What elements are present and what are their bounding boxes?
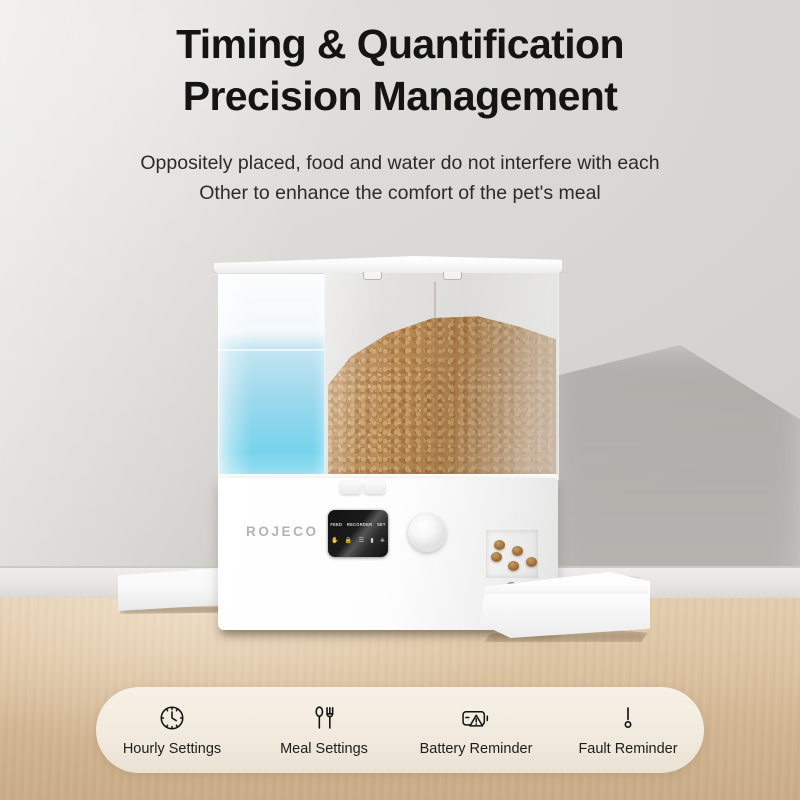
- kibble-piece: [512, 546, 523, 556]
- display-label-recorder: RECORDER: [347, 522, 372, 527]
- product-marketing-image: Timing & Quantification Precision Manage…: [0, 0, 800, 800]
- lock-icon: 🔒: [345, 538, 352, 544]
- exclamation-icon: [614, 704, 642, 732]
- feature-label: Fault Reminder: [578, 741, 677, 757]
- feature-label: Battery Reminder: [420, 741, 533, 757]
- feature-label: Hourly Settings: [123, 741, 221, 757]
- subtitle-line-2: Other to enhance the comfort of the pet'…: [199, 182, 601, 204]
- feature-label: Meal Settings: [280, 741, 368, 757]
- feature-highlight-bar: Hourly Settings Meal Settings: [96, 687, 704, 773]
- latch-tab-right: [364, 481, 385, 494]
- brand-logo: ROJECO: [246, 524, 319, 539]
- feature-item-battery-reminder[interactable]: Battery Reminder: [400, 704, 552, 757]
- kibble-piece: [491, 552, 502, 562]
- page-subtitle: Oppositely placed, food and water do not…: [50, 148, 750, 208]
- lid-clip-left: [363, 272, 382, 280]
- display-mode-labels: FEED RECORDER SET: [328, 522, 388, 527]
- display-label-feed: FEED: [330, 522, 342, 527]
- kibble-piece: [494, 540, 505, 550]
- feature-item-meal-settings[interactable]: Meal Settings: [248, 704, 400, 757]
- display-status-icons: ✋ 🔒 ☰ ▮ ⎈: [328, 538, 388, 544]
- wifi-icon: ☰: [359, 538, 364, 544]
- page-title: Timing & Quantification Precision Manage…: [0, 18, 800, 122]
- pet-feeder-product: ROJECO FEED RECORDER SET ✋ 🔒 ☰ ▮ ⎈: [118, 252, 648, 644]
- hopper-inner-edge: [434, 282, 436, 478]
- subtitle-line-1: Oppositely placed, food and water do not…: [140, 152, 659, 174]
- battery-icon: ▮: [370, 538, 373, 544]
- feature-item-fault-reminder[interactable]: Fault Reminder: [552, 704, 704, 757]
- latch-tab-left: [340, 481, 361, 494]
- clock-icon: [158, 704, 186, 732]
- feature-item-hourly-settings[interactable]: Hourly Settings: [96, 704, 248, 757]
- food-dispensing-chute: [486, 530, 538, 578]
- water-tank-gloss: [218, 274, 252, 480]
- control-knob[interactable]: [408, 514, 446, 552]
- hand-icon: ✋: [331, 538, 338, 544]
- hopper-latch[interactable]: [340, 481, 386, 495]
- heading-block: Timing & Quantification Precision Manage…: [0, 18, 800, 208]
- power-icon: ⎈: [380, 538, 385, 544]
- battery-warning-icon: [461, 704, 491, 732]
- cutlery-icon: [310, 704, 338, 732]
- hopper-lid[interactable]: [214, 256, 562, 273]
- kibble-piece: [508, 561, 519, 571]
- title-line-1: Timing & Quantification: [176, 21, 624, 67]
- title-line-2: Precision Management: [183, 73, 618, 119]
- display-label-set: SET: [377, 522, 386, 527]
- lid-clip-right: [443, 272, 462, 280]
- control-display-panel[interactable]: FEED RECORDER SET ✋ 🔒 ☰ ▮ ⎈: [328, 510, 388, 557]
- kibble-piece: [526, 557, 537, 567]
